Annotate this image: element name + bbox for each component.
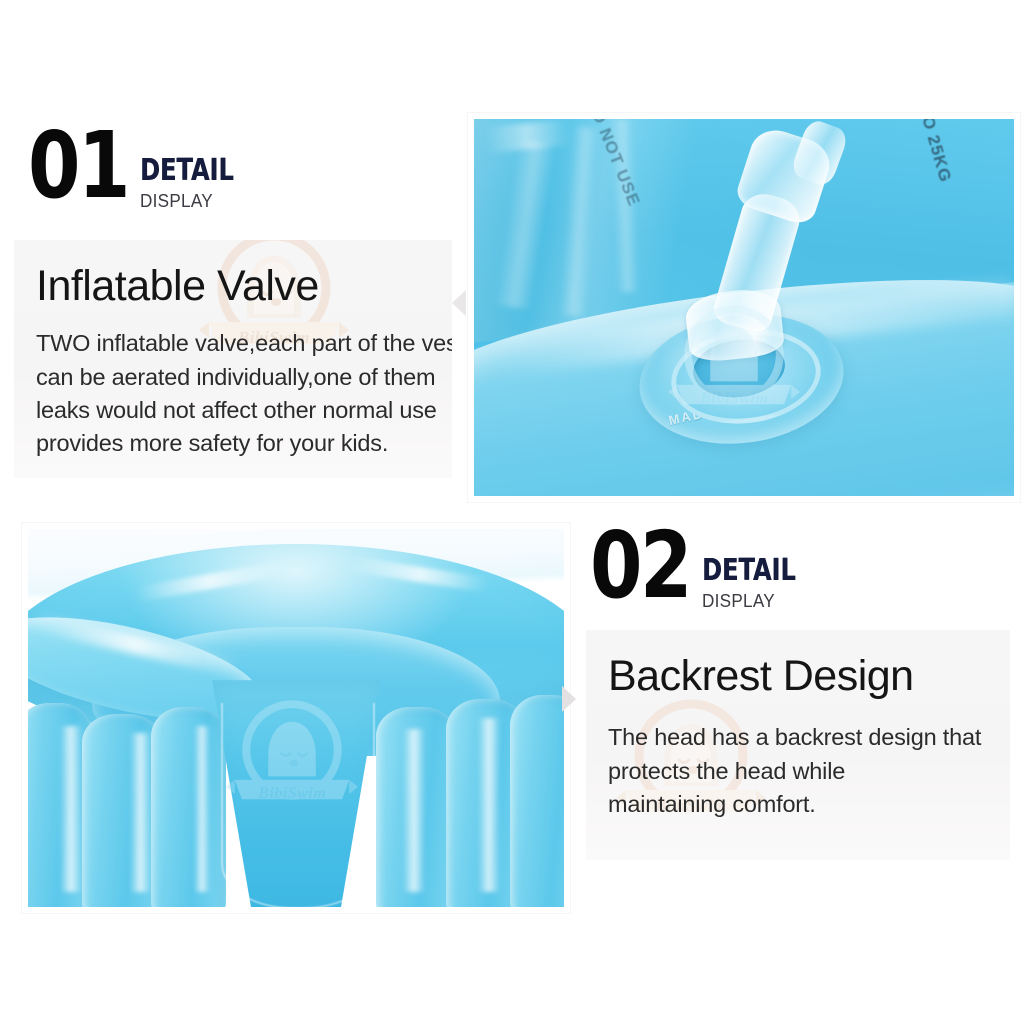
section-01-detail-label: DETAIL: [140, 156, 234, 186]
body-line: can be aerated individually,one of them: [36, 361, 430, 394]
section-01-title: Inflatable Valve: [36, 264, 430, 309]
section-01-heading: 01 DETAIL DISPLAY: [28, 128, 257, 210]
section-01-photo: TO 25KG DO NOT USE MADE IN: [468, 113, 1020, 502]
section-02-display-label: DISPLAY: [702, 592, 775, 610]
section-02-badge: DETAIL DISPLAY: [702, 556, 819, 610]
section-02-pointer-icon: [562, 686, 576, 712]
section-02-photo: BibiSwim: [22, 523, 570, 913]
product-detail-page: 01 DETAIL DISPLAY BibiSwim Inflatable Va…: [0, 0, 1024, 1024]
body-line: provides more safety for your kids.: [36, 427, 430, 460]
backrest-strap: [221, 703, 375, 907]
section-01-body: TWO inflatable valve,each part of the ve…: [36, 327, 430, 460]
valve-photo-scene: TO 25KG DO NOT USE MADE IN: [474, 119, 1014, 496]
backrest-photo-scene: BibiSwim: [28, 529, 564, 907]
section-01-number: 01: [28, 128, 128, 203]
body-line: TWO inflatable valve,each part of the ve…: [36, 327, 430, 360]
body-line: leaks would not affect other normal use: [36, 394, 430, 427]
vest-column: [151, 707, 226, 907]
section-01-text-panel: BibiSwim Inflatable Valve TWO inflatable…: [14, 240, 452, 478]
section-01-display-label: DISPLAY: [140, 192, 213, 210]
vest-column: [376, 707, 456, 907]
vest-column: [510, 695, 564, 907]
section-02-heading: 02 DETAIL DISPLAY: [590, 528, 819, 610]
section-01-badge: DETAIL DISPLAY: [140, 156, 257, 210]
section-02-body: The head has a backrest design that prot…: [608, 721, 988, 821]
body-line: maintaining comfort.: [608, 788, 988, 821]
section-01-pointer-icon: [452, 290, 466, 316]
section-02-detail-label: DETAIL: [702, 556, 796, 586]
body-line: protects the head while: [608, 755, 988, 788]
section-02-text-panel: BibiSwim Backrest Design The head has a …: [586, 630, 1010, 860]
body-line: The head has a backrest design that: [608, 721, 988, 754]
section-02-number: 02: [590, 528, 690, 603]
vest-column: [82, 714, 162, 907]
section-02-title: Backrest Design: [608, 654, 988, 699]
